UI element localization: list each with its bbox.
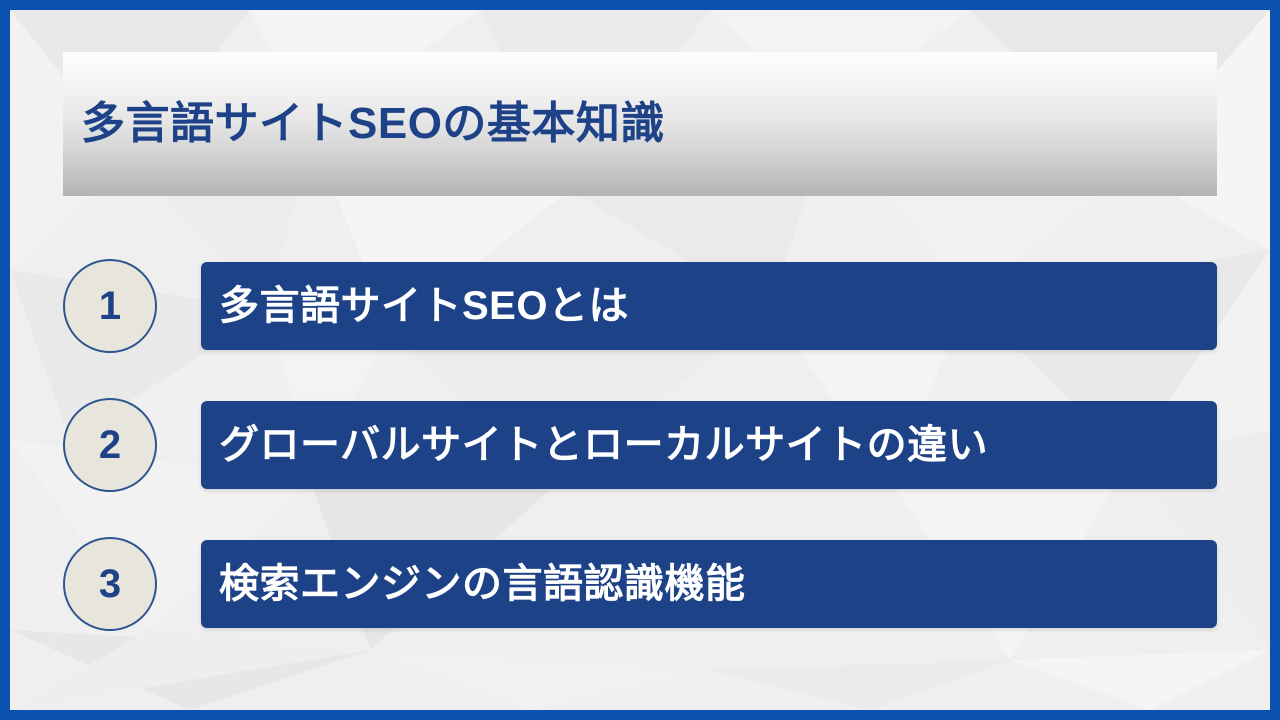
agenda-bar-2[interactable]: グローバルサイトとローカルサイトの違い [201,401,1217,489]
agenda-number-3: 3 [99,564,121,604]
agenda-label-1: 多言語サイトSEOとは [219,286,629,326]
agenda-number-2: 2 [99,425,121,465]
agenda-number-badge-1: 1 [63,259,157,353]
agenda-item-2[interactable]: 2 グローバルサイトとローカルサイトの違い [63,397,1217,493]
slide-root: 多言語サイトSEOの基本知識 1 多言語サイトSEOとは 2 グローバルサイトと… [0,0,1280,720]
agenda-bar-1[interactable]: 多言語サイトSEOとは [201,262,1217,350]
page-title: 多言語サイトSEOの基本知識 [81,102,665,146]
agenda-number-1: 1 [99,286,121,326]
slide-stage: 多言語サイトSEOの基本知識 1 多言語サイトSEOとは 2 グローバルサイトと… [10,10,1270,710]
agenda-number-badge-3: 3 [63,537,157,631]
slide-title-plate: 多言語サイトSEOの基本知識 [63,52,1217,196]
agenda-item-3[interactable]: 3 検索エンジンの言語認識機能 [63,536,1217,632]
agenda-bar-3[interactable]: 検索エンジンの言語認識機能 [201,540,1217,628]
agenda-item-1[interactable]: 1 多言語サイトSEOとは [63,258,1217,354]
agenda-label-3: 検索エンジンの言語認識機能 [219,564,746,604]
agenda-number-badge-2: 2 [63,398,157,492]
agenda-label-2: グローバルサイトとローカルサイトの違い [219,425,988,465]
